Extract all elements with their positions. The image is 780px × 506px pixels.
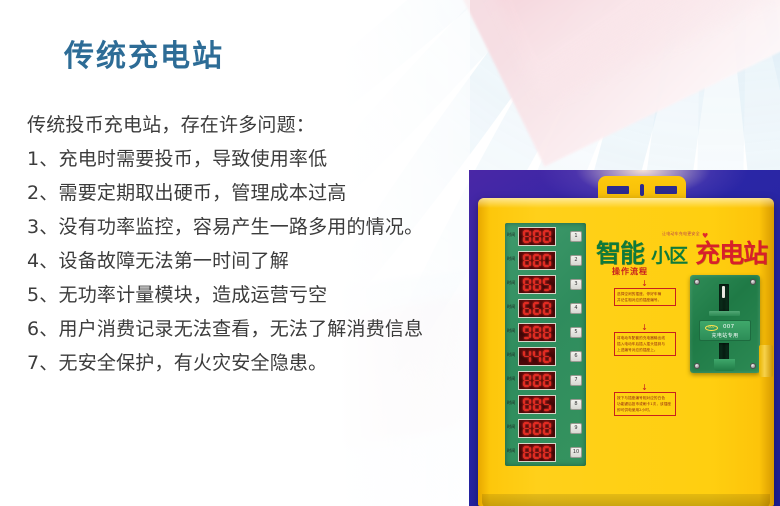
seven-segment-digit: [543, 350, 551, 363]
seven-segment-digit: [523, 446, 531, 459]
segment-b: [539, 447, 541, 452]
list-item-text: 无安全保护，有火灾安全隐患。: [59, 346, 328, 380]
socket-button-4[interactable]: 4: [570, 303, 582, 314]
led-channel-row: 时间6: [505, 345, 586, 369]
led-time-label: 时间: [507, 280, 515, 286]
coin-return-tray[interactable]: [714, 359, 735, 371]
segment-b: [539, 279, 541, 284]
segment-d: [544, 265, 549, 267]
segment-d: [544, 289, 549, 291]
segment-e: [543, 357, 545, 362]
segment-d: [534, 289, 539, 291]
segment-d: [524, 457, 529, 459]
segment-d: [534, 337, 539, 339]
segment-b: [549, 231, 551, 236]
segment-d: [534, 433, 539, 435]
device-branding: 让电动车充电更安全 ♥ 智能 小区 充电站: [596, 234, 768, 264]
led-display: [518, 251, 556, 270]
led-display: [518, 395, 556, 414]
segment-e: [523, 237, 525, 242]
segment-c: [549, 333, 551, 338]
segment-e: [543, 237, 545, 242]
led-display: [518, 347, 556, 366]
socket-button-9[interactable]: 9: [570, 423, 582, 434]
device-top-highlight: [478, 198, 774, 208]
socket-button-1[interactable]: 1: [570, 231, 582, 242]
segment-e: [523, 429, 525, 434]
led-channel-row: 时间4: [505, 297, 586, 321]
socket-button-5[interactable]: 5: [570, 327, 582, 338]
flow-step-line: 上述编号对应的插座上。: [617, 347, 673, 353]
segment-a: [544, 278, 549, 280]
segment-e: [533, 333, 535, 338]
led-display: [518, 443, 556, 462]
seven-segment-digit: [533, 398, 541, 411]
led-display: [518, 299, 556, 318]
segment-e: [533, 453, 535, 458]
socket-button-8[interactable]: 8: [570, 399, 582, 410]
list-item-text: 充电时需要投币，导致使用率低: [59, 142, 328, 176]
segment-c: [549, 405, 551, 410]
segment-c: [549, 381, 551, 386]
seven-segment-digit: [533, 374, 541, 387]
segment-d: [534, 265, 539, 267]
seven-segment-digit: [523, 422, 531, 435]
flow-step-line: 即可供电使用2小时。: [617, 407, 673, 413]
cabinet-side-latch: [759, 345, 773, 377]
segment-c: [549, 453, 551, 458]
mount-slot-left: [607, 186, 629, 194]
list-item-text: 需要定期取出硬币，管理成本过高: [59, 176, 347, 210]
coin-label-subtitle: 充电站专用: [700, 332, 750, 339]
list-item: 2、 需要定期取出硬币，管理成本过高: [27, 176, 507, 210]
segment-c: [549, 261, 551, 266]
segment-b: [529, 231, 531, 236]
coin-insert-slot[interactable]: [719, 284, 729, 312]
segment-b: [539, 231, 541, 236]
led-channel-row: 时间7: [505, 369, 586, 393]
segment-c: [529, 333, 531, 338]
segment-c: [539, 357, 541, 362]
list-item: 6、 用户消费记录无法查看，无法了解消费信息: [27, 312, 507, 346]
segment-b: [529, 423, 531, 428]
led-time-label: 时间: [507, 352, 515, 358]
led-time-label: 时间: [507, 328, 515, 334]
segment-c: [529, 237, 531, 242]
flow-step-box-2: 将电动车配套的充电器输出线插入电动车后插入插头插到与上述编号对应的插座上。: [614, 332, 676, 356]
seven-segment-digit: [523, 278, 531, 291]
list-item-number: 5、: [27, 278, 59, 312]
flow-step-box-1: 选择空闲的插座，停好车辆并记住相对应的插座编号。: [614, 288, 676, 306]
segment-b: [549, 303, 551, 308]
segment-b: [539, 399, 541, 404]
device-body: 时间1时间2时间3时间4时间5时间6时间7时间8时间9时间10 让电动车充电更安…: [478, 198, 774, 506]
segment-b: [529, 327, 531, 332]
segment-e: [523, 453, 525, 458]
segment-a: [544, 398, 549, 400]
segment-c: [529, 405, 531, 410]
seven-segment-digit: [533, 278, 541, 291]
segment-d: [524, 385, 529, 387]
heart-icon: ♥: [702, 232, 708, 240]
led-time-label: 时间: [507, 400, 515, 406]
seven-segment-digit: [533, 350, 541, 363]
segment-d: [534, 457, 539, 459]
segment-d: [544, 385, 549, 387]
segment-c: [529, 285, 531, 290]
led-time-label: 时间: [507, 256, 515, 262]
segment-b: [539, 375, 541, 380]
segment-e: [543, 261, 545, 266]
segment-d: [524, 313, 529, 315]
segment-c: [549, 237, 551, 242]
seven-segment-digit: [543, 398, 551, 411]
brand-text-station: 充电站: [695, 239, 767, 268]
segment-e: [533, 237, 535, 242]
segment-e: [523, 285, 525, 290]
segment-d: [524, 265, 529, 267]
mount-slot-right: [655, 186, 677, 194]
socket-button-10[interactable]: 10: [570, 447, 582, 458]
slide-canvas: 传统充电站 传统投币充电站，存在许多问题： 1、 充电时需要投币，导致使用率低 …: [0, 0, 780, 506]
segment-e: [533, 405, 535, 410]
segment-b: [529, 351, 531, 356]
seven-segment-digit: [543, 422, 551, 435]
list-item-text: 无功率计量模块，造成运营亏空: [59, 278, 328, 312]
segment-e: [543, 381, 545, 386]
flow-step-box-3: 按下与插座编号相对应的白色功能键后投币或刷卡1次，该插座即可供电使用2小时。: [614, 392, 676, 416]
list-item-number: 4、: [27, 244, 59, 278]
segment-e: [523, 405, 525, 410]
brand-text-community: 小区: [651, 245, 687, 267]
segment-c: [529, 357, 531, 362]
segment-c: [539, 405, 541, 410]
led-channel-row: 时间2: [505, 249, 586, 273]
segment-d: [524, 433, 529, 435]
screw-icon: [750, 279, 756, 285]
segment-b: [549, 375, 551, 380]
segment-d: [544, 313, 549, 315]
list-item-text: 没有功率监控，容易产生一路多用的情况。: [59, 210, 424, 244]
device-bottom-edge: [482, 494, 770, 506]
socket-button-7[interactable]: 7: [570, 375, 582, 386]
segment-e: [523, 309, 525, 314]
segment-b: [529, 375, 531, 380]
segment-b: [549, 255, 551, 260]
led-display: [518, 275, 556, 294]
segment-f: [543, 255, 545, 260]
seven-segment-digit: [523, 254, 531, 267]
led-channel-row: 时间10: [505, 441, 586, 465]
led-time-label: 时间: [507, 304, 515, 310]
segment-d: [544, 433, 549, 435]
socket-button-3[interactable]: 3: [570, 279, 582, 290]
led-time-label: 时间: [507, 424, 515, 430]
segment-c: [529, 453, 531, 458]
seven-segment-digit: [523, 302, 531, 315]
flow-step-line: 并记住相对应的插座编号。: [617, 297, 673, 303]
seven-segment-digit: [523, 230, 531, 243]
seven-segment-digit: [543, 254, 551, 267]
segment-d: [534, 313, 539, 315]
list-item-text: 设备故障无法第一时间了解: [59, 244, 289, 278]
segment-b: [529, 255, 531, 260]
seven-segment-digit: [543, 278, 551, 291]
led-channel-row: 时间1: [505, 225, 586, 249]
led-display: [518, 323, 556, 342]
socket-button-2[interactable]: 2: [570, 255, 582, 266]
seven-segment-digit: [523, 398, 531, 411]
segment-c: [539, 333, 541, 338]
page-title: 传统充电站: [64, 31, 224, 75]
segment-b: [549, 423, 551, 428]
brand-text-smart: 智能: [596, 239, 644, 268]
segment-c: [539, 309, 541, 314]
list-item-number: 3、: [27, 210, 59, 244]
segment-c: [549, 309, 551, 314]
segment-e: [543, 333, 545, 338]
segment-d: [544, 457, 549, 459]
segment-e: [523, 381, 525, 386]
segment-c: [539, 285, 541, 290]
segment-c: [529, 261, 531, 266]
segment-c: [539, 261, 541, 266]
segment-d: [524, 409, 529, 411]
segment-c: [539, 453, 541, 458]
charging-station-photo: 时间1时间2时间3时间4时间5时间6时间7时间8时间9时间10 让电动车充电更安…: [469, 170, 780, 506]
coin-acceptor[interactable]: 007 007 充电站专用: [690, 275, 760, 373]
led-time-label: 时间: [507, 376, 515, 382]
list-item-number: 2、: [27, 176, 59, 210]
flow-title: 操作流程: [612, 266, 648, 277]
segment-e: [543, 453, 545, 458]
segment-c: [529, 429, 531, 434]
slide-content: 传统充电站 传统投币充电站，存在许多问题： 1、 充电时需要投币，导致使用率低 …: [0, 0, 780, 506]
list-item-number: 1、: [27, 142, 59, 176]
led-time-label: 时间: [507, 232, 515, 238]
list-item: 3、 没有功率监控，容易产生一路多用的情况。: [27, 210, 507, 244]
seven-segment-digit: [533, 446, 541, 459]
segment-b: [539, 255, 541, 260]
list-item: 4、 设备故障无法第一时间了解: [27, 244, 507, 278]
list-item-number: 7、: [27, 346, 59, 380]
seven-segment-digit: [543, 446, 551, 459]
segment-d: [534, 241, 539, 243]
segment-c: [549, 285, 551, 290]
socket-button-6[interactable]: 6: [570, 351, 582, 362]
led-time-label: 时间: [507, 448, 515, 454]
segment-b: [539, 327, 541, 332]
led-channel-row: 时间8: [505, 393, 586, 417]
list-item: 7、 无安全保护，有火灾安全隐患。: [27, 346, 507, 380]
coin-model-number: 007: [723, 324, 734, 330]
segment-c: [549, 429, 551, 434]
segment-b: [549, 447, 551, 452]
coin-acceptor-label: 007 007 充电站专用: [699, 320, 751, 341]
segment-a: [524, 302, 529, 304]
flow-arrow-icon: ↓: [641, 280, 648, 288]
segment-e: [523, 261, 525, 266]
segment-a: [544, 350, 549, 352]
seven-segment-digit: [533, 302, 541, 315]
led-display: [518, 371, 556, 390]
segment-b: [549, 327, 551, 332]
flow-arrow-icon: ↓: [641, 324, 648, 332]
segment-b: [529, 447, 531, 452]
segment-e: [533, 429, 535, 434]
segment-e: [533, 381, 535, 386]
segment-e: [543, 429, 545, 434]
segment-b: [539, 423, 541, 428]
seven-segment-digit: [523, 374, 531, 387]
seven-segment-digit: [533, 254, 541, 267]
led-display: [518, 227, 556, 246]
list-item-number: 6、: [27, 312, 59, 346]
mount-slot-center: [640, 184, 644, 196]
segment-b: [539, 351, 541, 356]
segment-d: [524, 289, 529, 291]
segment-d: [544, 241, 549, 243]
coin-slot-lip: [709, 311, 740, 316]
segment-d: [544, 409, 549, 411]
list-item-text: 用户消费记录无法查看，无法了解消费信息: [59, 312, 424, 346]
segment-b: [529, 399, 531, 404]
led-channel-row: 时间9: [505, 417, 586, 441]
seven-segment-digit: [543, 230, 551, 243]
brand-tagline: 让电动车充电更安全: [662, 231, 700, 237]
segment-d: [524, 241, 529, 243]
seven-segment-digit: [543, 326, 551, 339]
segment-b: [529, 279, 531, 284]
segment-a: [534, 302, 539, 304]
segment-d: [544, 337, 549, 339]
segment-c: [529, 381, 531, 386]
segment-e: [533, 261, 535, 266]
problem-list: 传统投币充电站，存在许多问题： 1、 充电时需要投币，导致使用率低 2、 需要定…: [27, 108, 507, 380]
segment-c: [529, 309, 531, 314]
led-channel-row: 时间5: [505, 321, 586, 345]
screw-icon: [750, 363, 756, 369]
seven-segment-digit: [523, 326, 531, 339]
list-item: 1、 充电时需要投币，导致使用率低: [27, 142, 507, 176]
screw-icon: [694, 279, 700, 285]
segment-e: [533, 309, 535, 314]
segment-c: [539, 381, 541, 386]
seven-segment-digit: [543, 374, 551, 387]
seven-segment-digit: [533, 230, 541, 243]
list-item: 5、 无功率计量模块，造成运营亏空: [27, 278, 507, 312]
led-status-panel: 时间1时间2时间3时间4时间5时间6时间7时间8时间9时间10: [505, 223, 586, 466]
segment-c: [539, 237, 541, 242]
seven-segment-digit: [543, 302, 551, 315]
seven-segment-digit: [533, 422, 541, 435]
segment-c: [549, 357, 551, 362]
seven-segment-digit: [523, 350, 531, 363]
led-channel-row: 时间3: [505, 273, 586, 297]
segment-d: [544, 361, 549, 363]
segment-d: [534, 385, 539, 387]
lead-paragraph: 传统投币充电站，存在许多问题：: [27, 108, 507, 142]
segment-e: [533, 285, 535, 290]
led-display: [518, 419, 556, 438]
seven-segment-digit: [533, 326, 541, 339]
flow-arrow-icon: ↓: [641, 384, 648, 392]
segment-d: [524, 337, 529, 339]
segment-e: [543, 309, 545, 314]
segment-c: [539, 429, 541, 434]
segment-d: [534, 409, 539, 411]
screw-icon: [694, 363, 700, 369]
coin-brand-mark: 007: [705, 325, 718, 331]
